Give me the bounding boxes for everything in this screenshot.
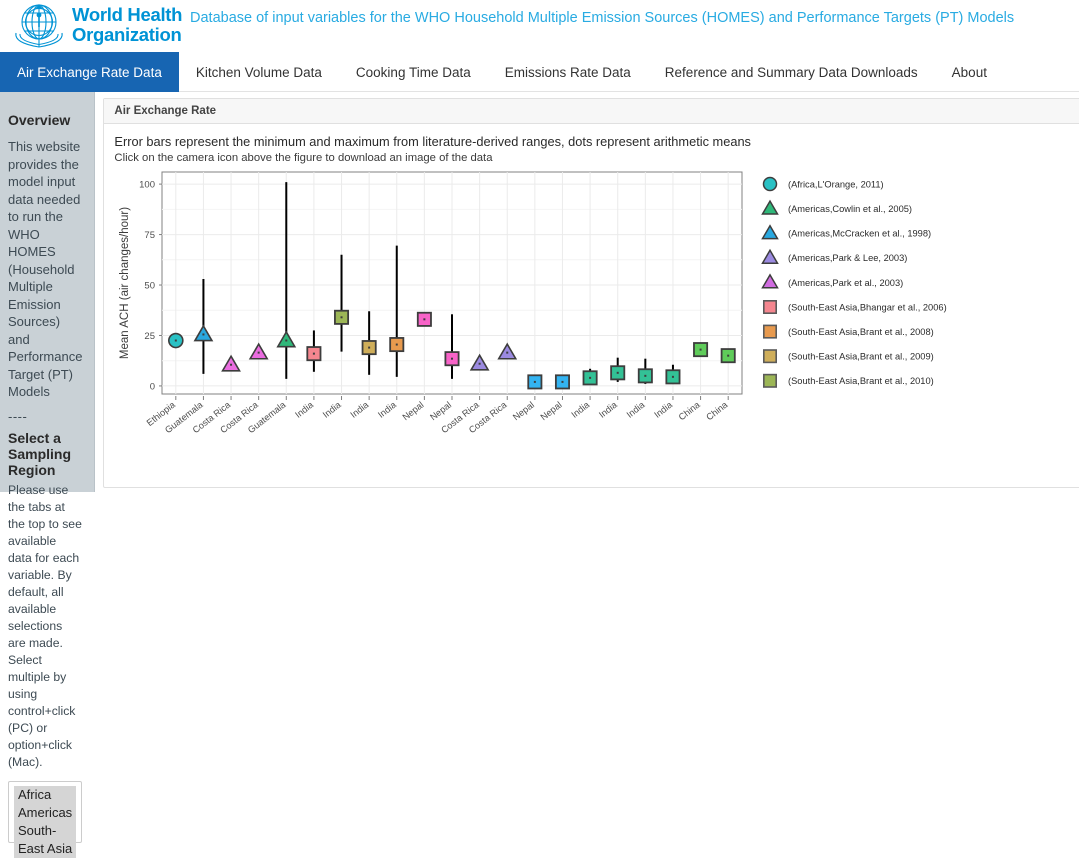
x-tick-label: India	[377, 399, 400, 420]
data-point-center	[424, 318, 426, 320]
figure-caption-main: Error bars represent the minimum and max…	[114, 134, 1079, 149]
panel-body: Error bars represent the minimum and max…	[104, 124, 1079, 470]
main-panel: Air Exchange Rate Error bars represent t…	[95, 92, 1079, 492]
data-point-center	[258, 352, 260, 354]
region-help-text: Please use the tabs at the top to see av…	[8, 482, 82, 771]
y-tick-label: 50	[145, 281, 156, 292]
tab-air-exchange-rate-data[interactable]: Air Exchange Rate Data	[0, 52, 179, 92]
data-point-center	[313, 353, 315, 355]
data-point-center	[369, 347, 371, 349]
data-point-center	[451, 358, 453, 360]
x-tick-label: India	[570, 399, 593, 420]
x-tick-label: China	[705, 399, 731, 422]
data-point-center	[728, 355, 730, 357]
main-navigation: Air Exchange Rate Data Kitchen Volume Da…	[0, 52, 1079, 92]
legend-marker[interactable]	[763, 250, 778, 263]
panel-title: Air Exchange Rate	[104, 99, 1079, 124]
legend-marker[interactable]	[764, 178, 777, 191]
x-tick-label: India	[349, 399, 372, 420]
data-point-center	[203, 333, 205, 335]
tab-kitchen-volume-data[interactable]: Kitchen Volume Data	[179, 52, 339, 92]
y-tick-label: 75	[145, 230, 156, 241]
y-tick-label: 100	[140, 180, 156, 191]
wordmark-line-2: Organization	[72, 25, 182, 45]
data-point-center	[645, 375, 647, 377]
legend-label[interactable]: (Americas,Cowlin et al., 2005)	[788, 204, 912, 214]
data-point-center	[672, 376, 674, 378]
data-point-center	[396, 344, 398, 346]
x-tick-label: Nepal	[511, 400, 536, 423]
overview-heading: Overview	[8, 112, 82, 128]
x-tick-label: India	[294, 399, 317, 420]
data-point-center	[341, 316, 343, 318]
figure-caption-sub: Click on the camera icon above the figur…	[114, 152, 1079, 164]
air-exchange-rate-chart[interactable]: 0255075100Mean ACH (air changes/hour)Eth…	[114, 170, 966, 470]
tab-reference-and-summary-data-downloads[interactable]: Reference and Summary Data Downloads	[648, 52, 935, 92]
y-tick-label: 0	[150, 381, 155, 392]
region-heading: Select a Sampling Region	[8, 430, 82, 478]
legend-label[interactable]: (South-East Asia,Brant et al., 2008)	[788, 327, 934, 337]
x-tick-label: India	[597, 399, 620, 420]
legend-label[interactable]: (Americas,McCracken et al., 1998)	[788, 229, 931, 239]
legend-label[interactable]: (Americas,Park & Lee, 2003)	[788, 253, 907, 263]
x-tick-label: China	[677, 399, 703, 422]
data-point-center	[534, 381, 536, 383]
data-point-center	[479, 363, 481, 365]
data-point-center	[700, 349, 702, 351]
legend-label[interactable]: (South-East Asia,Brant et al., 2010)	[788, 376, 934, 386]
region-option-south-east-asia[interactable]: South-East Asia	[14, 822, 76, 858]
data-point-center	[590, 377, 592, 379]
x-tick-label: India	[653, 399, 676, 420]
figure-container[interactable]: 0255075100Mean ACH (air changes/hour)Eth…	[114, 170, 1079, 470]
data-point-center	[562, 381, 564, 383]
legend-label[interactable]: (Americas,Park et al., 2003)	[788, 278, 903, 288]
page-title: Database of input variables for the WHO …	[190, 10, 1014, 26]
x-tick-label: India	[625, 399, 648, 420]
data-point-center	[230, 364, 232, 366]
legend-marker[interactable]	[764, 325, 776, 337]
sidebar-divider: ----	[8, 409, 82, 424]
legend-marker[interactable]	[764, 350, 776, 362]
y-tick-label: 25	[145, 331, 156, 342]
tab-emissions-rate-data[interactable]: Emissions Rate Data	[488, 52, 648, 92]
who-wordmark: World Health Organization	[72, 5, 182, 45]
data-point-center	[617, 372, 619, 374]
region-option-americas[interactable]: Americas	[14, 804, 76, 822]
legend-marker[interactable]	[764, 375, 776, 387]
y-axis-label: Mean ACH (air changes/hour)	[119, 207, 131, 359]
tab-cooking-time-data[interactable]: Cooking Time Data	[339, 52, 488, 92]
legend-label[interactable]: (Africa,L'Orange, 2011)	[788, 179, 884, 189]
data-point-center	[286, 340, 288, 342]
legend-label[interactable]: (South-East Asia,Bhangar et al., 2006)	[788, 302, 947, 312]
region-option-africa[interactable]: Africa	[14, 786, 76, 804]
sidebar: Overview This website provides the model…	[0, 92, 95, 492]
tab-about[interactable]: About	[935, 52, 1004, 92]
data-point-center	[507, 352, 509, 354]
wordmark-line-1: World Health	[72, 5, 182, 25]
nav-list: Air Exchange Rate Data Kitchen Volume Da…	[0, 52, 1079, 92]
legend-marker[interactable]	[764, 301, 776, 313]
overview-text: This website provides the model input da…	[8, 138, 82, 401]
legend-marker[interactable]	[763, 275, 778, 288]
legend-marker[interactable]	[763, 201, 778, 214]
x-tick-label: Nepal	[539, 400, 564, 423]
site-header: World Health Organization Database of in…	[0, 0, 1079, 52]
content-area: Overview This website provides the model…	[0, 92, 1079, 492]
x-tick-label: Nepal	[401, 400, 426, 423]
legend-marker[interactable]	[763, 226, 778, 239]
region-select[interactable]: Africa Americas South-East Asia	[8, 781, 82, 843]
data-point-center	[175, 340, 177, 342]
air-exchange-rate-panel: Air Exchange Rate Error bars represent t…	[103, 98, 1079, 488]
x-tick-label: India	[321, 399, 344, 420]
who-emblem-icon	[8, 3, 70, 49]
legend-label[interactable]: (South-East Asia,Brant et al., 2009)	[788, 352, 934, 362]
